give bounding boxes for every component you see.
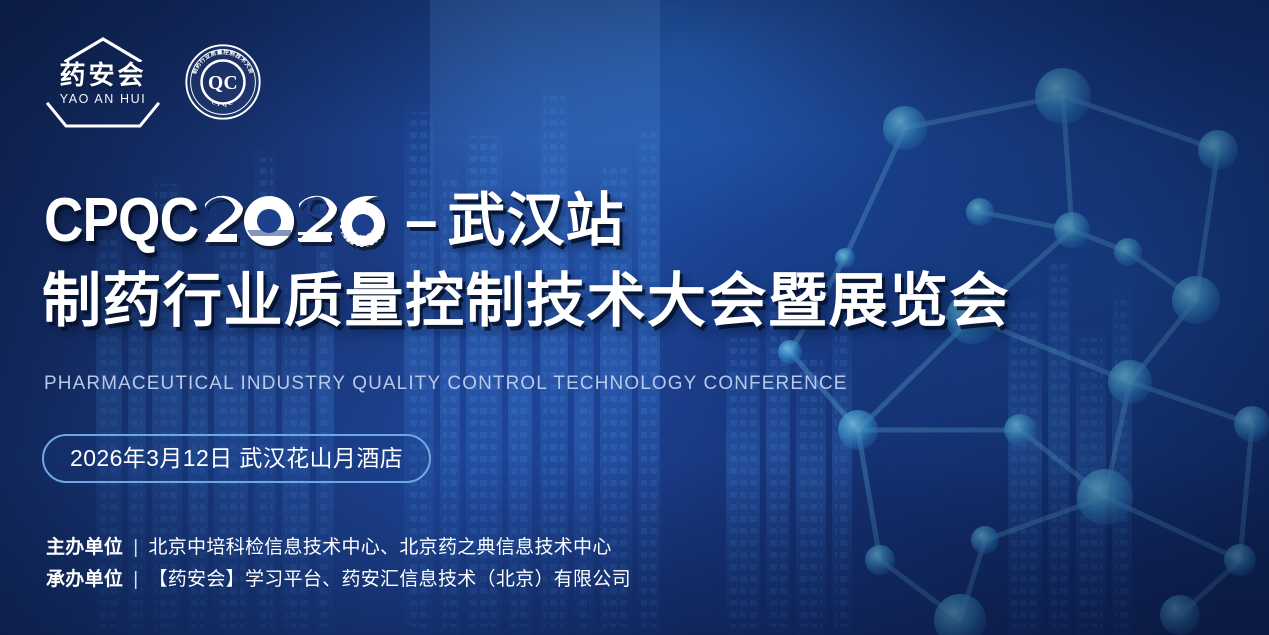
title-main-chinese: 制药行业质量控制技术大会暨展览会	[42, 267, 1010, 335]
organizer-value-host: 北京中培科检信息技术中心、北京药之典信息技术中心	[148, 532, 611, 564]
yaoanhui-logo: 药安会 YAO AN HUI	[44, 36, 162, 128]
organizer-label-undertaker: 承办单位	[46, 564, 123, 596]
organizer-sep-host: |	[133, 532, 138, 564]
svg-text:QC: QC	[208, 73, 238, 94]
title-dash: –	[405, 190, 437, 252]
title-line-one: CPQC	[44, 186, 624, 256]
date-venue-text: 2026年3月12日 武汉花山月酒店	[70, 447, 403, 470]
title-city: 武汉站	[447, 190, 624, 252]
organizer-sep-undertaker: |	[133, 564, 138, 596]
logo-row: 药安会 YAO AN HUI 制药行业质量控制技术大会 CPQC QC	[44, 36, 262, 128]
title-subtitle-english: PHARMACEUTICAL INDUSTRY QUALITY CONTROL …	[44, 372, 848, 394]
organizer-row-undertaker: 承办单位 | 【药安会】学习平台、药安汇信息技术（北京）有限公司	[46, 564, 631, 596]
qc-seal-icon: 制药行业质量控制技术大会 CPQC QC	[184, 43, 262, 121]
title-brand: CPQC	[44, 190, 198, 252]
chevron-up-icon	[44, 36, 162, 62]
organizer-block: 主办单位 | 北京中培科检信息技术中心、北京药之典信息技术中心 承办单位 | 【…	[46, 532, 631, 596]
organizer-value-undertaker: 【药安会】学习平台、药安汇信息技术（北京）有限公司	[148, 564, 631, 596]
chevron-down-frame-icon	[44, 102, 162, 128]
title-year-2026	[201, 190, 391, 252]
yaoanhui-cn-name: 药安会	[59, 62, 146, 88]
date-venue-badge: 2026年3月12日 武汉花山月酒店	[42, 434, 431, 483]
organizer-row-host: 主办单位 | 北京中培科检信息技术中心、北京药之典信息技术中心	[46, 532, 631, 564]
organizer-label-host: 主办单位	[46, 532, 123, 564]
conference-banner: 药安会 YAO AN HUI 制药行业质量控制技术大会 CPQC QC CP	[0, 0, 1269, 635]
